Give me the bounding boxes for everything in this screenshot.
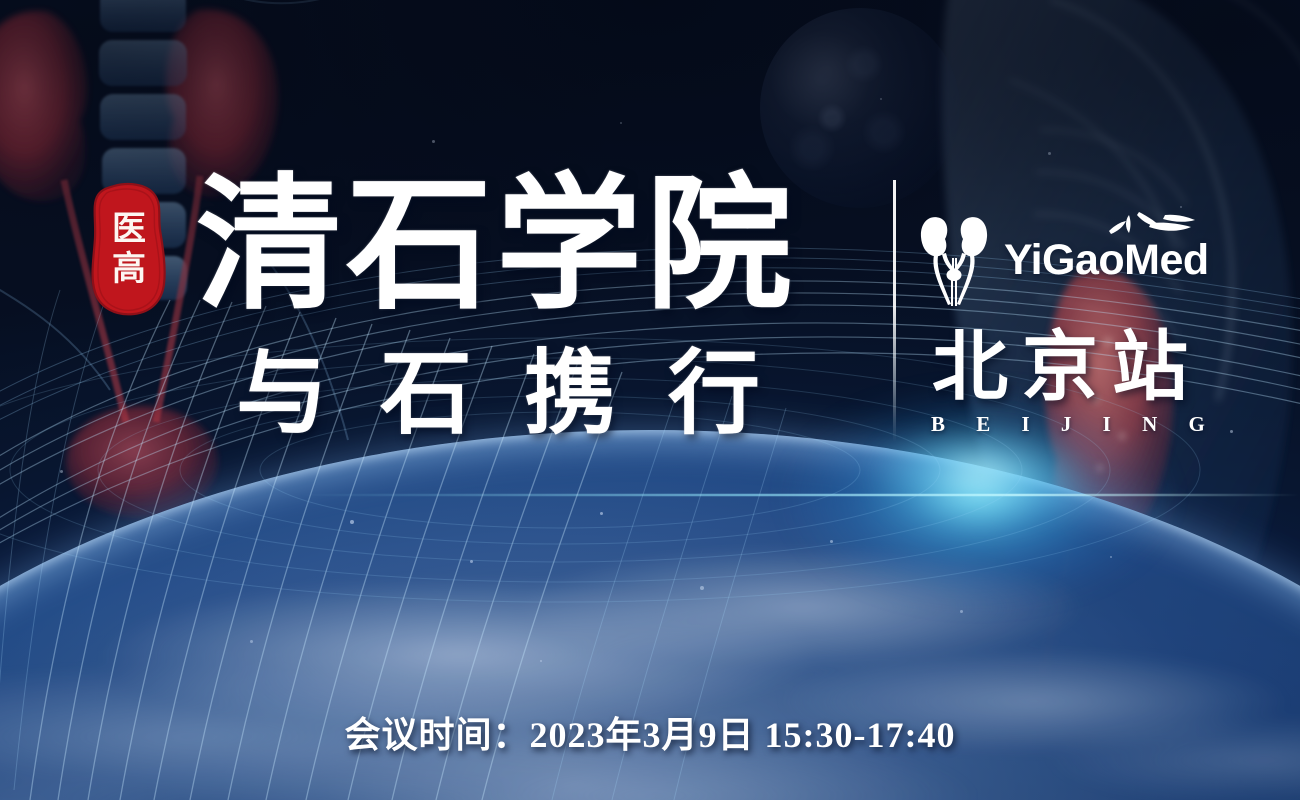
- seal-char-yi: 医: [112, 212, 146, 246]
- meeting-time-text: 会议时间：2023年3月9日 15:30-17:40: [0, 706, 1300, 758]
- swoosh-leaves-icon: [1107, 209, 1199, 243]
- page-title-sub: 与石携行: [236, 348, 812, 440]
- city-block: 北京站 B E I J I N G: [918, 330, 1200, 437]
- conference-poster: 医 高 清石学院 与石携行: [0, 0, 1300, 800]
- seal-char-gao: 高: [112, 252, 146, 286]
- page-title-main: 清石学院: [196, 172, 796, 318]
- brand-name: YiGaoMed: [1004, 239, 1209, 282]
- city-name-cn: 北京站: [918, 330, 1200, 406]
- vertical-divider: [893, 180, 896, 442]
- brand-lockup: YiGaoMed: [918, 212, 1209, 308]
- yigao-seal-stamp: 医 高: [88, 182, 170, 316]
- city-name-en: B E I J I N G: [918, 412, 1200, 437]
- kidney-urinary-tract-icon: [918, 212, 990, 308]
